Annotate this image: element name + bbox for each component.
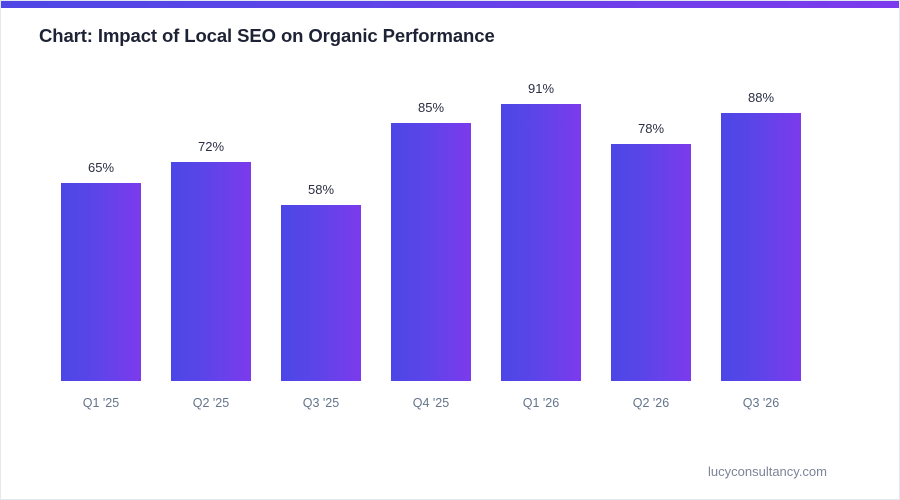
x-axis-category-label: Q2 '25: [151, 396, 271, 410]
chart-card: Chart: Impact of Local SEO on Organic Pe…: [0, 0, 900, 500]
bar-value-label: 65%: [45, 160, 157, 175]
x-axis-category-label: Q3 '25: [261, 396, 381, 410]
bar-value-label: 72%: [155, 139, 267, 154]
bar[interactable]: [721, 113, 801, 381]
bar-value-label: 88%: [705, 90, 817, 105]
x-axis-category-label: Q4 '25: [371, 396, 491, 410]
bar-value-label: 58%: [265, 182, 377, 197]
bar-chart-plot-area: 65%Q1 '2572%Q2 '2558%Q3 '2585%Q4 '2591%Q…: [1, 1, 900, 500]
bar[interactable]: [171, 162, 251, 381]
x-axis-category-label: Q1 '25: [41, 396, 161, 410]
site-watermark: lucyconsultancy.com: [708, 464, 827, 479]
x-axis-category-label: Q2 '26: [591, 396, 711, 410]
bar-value-label: 85%: [375, 100, 487, 115]
bar[interactable]: [61, 183, 141, 381]
bar[interactable]: [281, 205, 361, 381]
x-axis-category-label: Q3 '26: [701, 396, 821, 410]
bar[interactable]: [611, 144, 691, 381]
x-axis-category-label: Q1 '26: [481, 396, 601, 410]
bar[interactable]: [501, 104, 581, 381]
bar-value-label: 91%: [485, 81, 597, 96]
bar-value-label: 78%: [595, 121, 707, 136]
bar[interactable]: [391, 123, 471, 381]
